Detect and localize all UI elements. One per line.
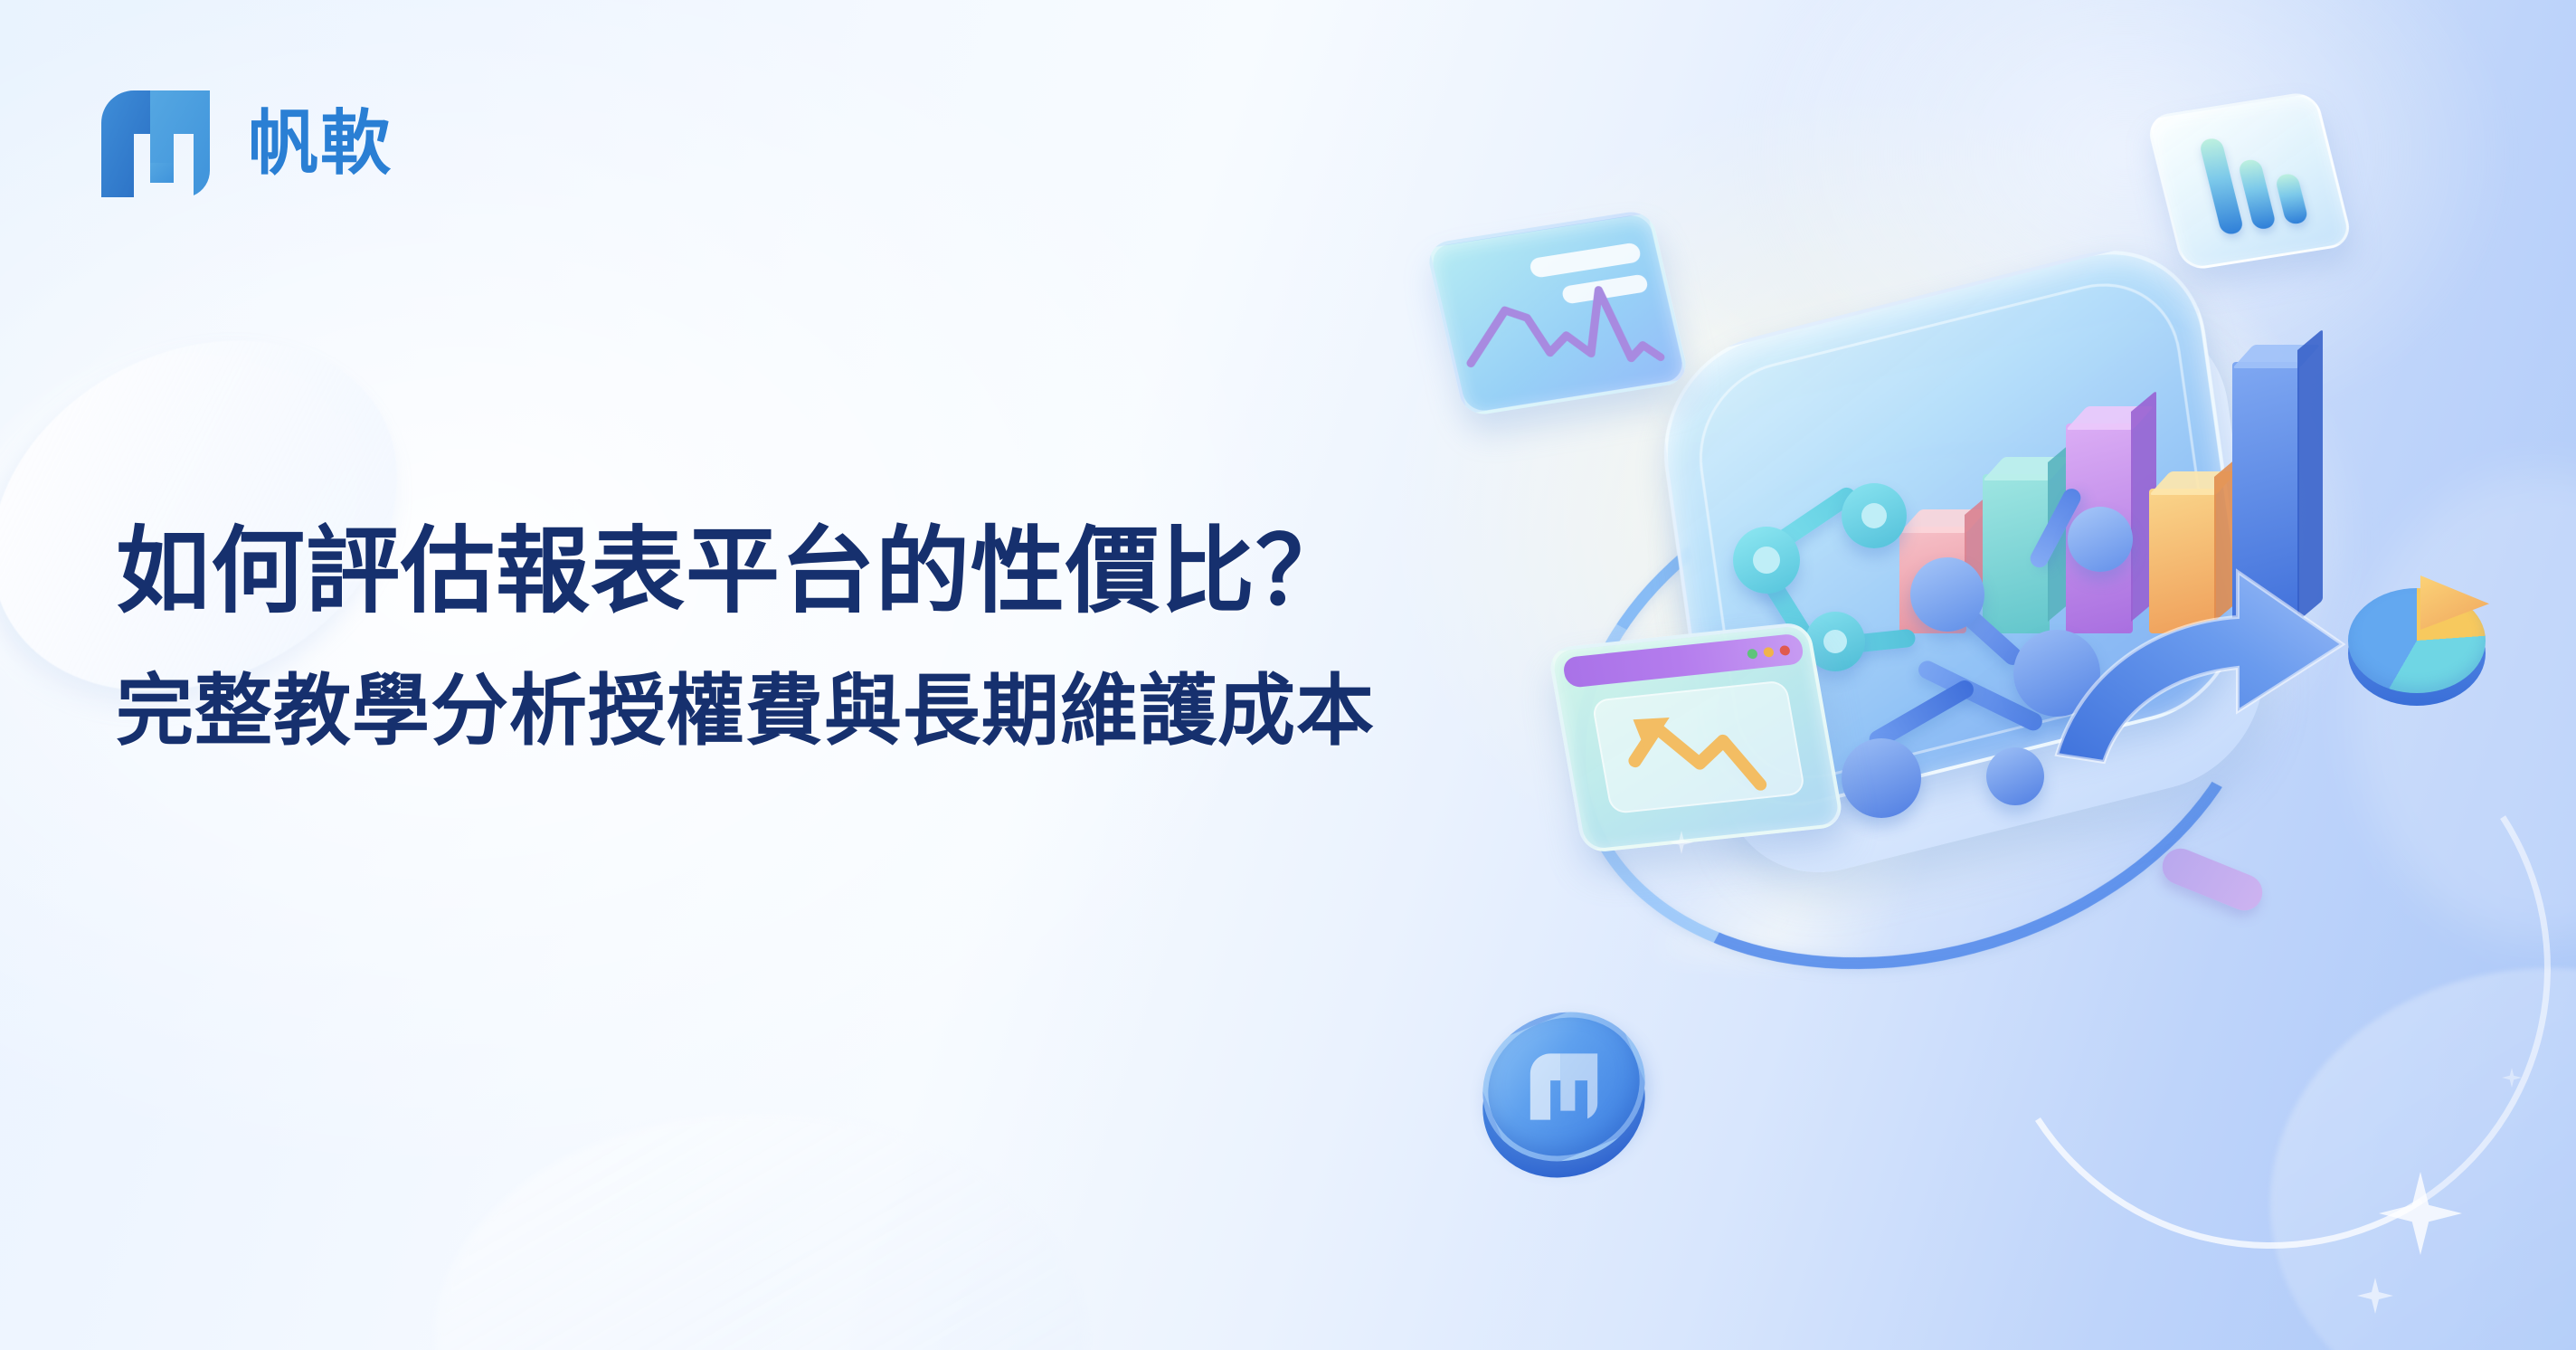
hero-illustration <box>1411 90 2576 1303</box>
trend-arrow-icon <box>1612 696 1792 811</box>
decorative-blob-bottom-left <box>434 1113 1085 1350</box>
line-chart-path-icon <box>1446 256 1681 404</box>
growth-arrow-icon <box>2044 516 2388 792</box>
card-bar <box>2275 173 2309 225</box>
hero-text-block: 如何評估報表平台的性價比？ 完整教學分析授權費與長期維護成本 <box>116 516 1375 758</box>
sparkle-icon <box>2357 1278 2393 1314</box>
fanruan-coin-icon <box>1474 1004 1655 1185</box>
card-bar <box>2238 158 2278 231</box>
coin-face <box>1460 988 1667 1185</box>
line-chart-card <box>1425 209 1690 417</box>
window-dot-green <box>1747 648 1758 659</box>
3d-pie-chart-icon <box>2343 570 2505 724</box>
window-dot-red <box>1779 644 1791 655</box>
brand-name: 帆軟 <box>248 109 393 179</box>
card-bar <box>2199 138 2245 236</box>
window-titlebar <box>1562 633 1805 689</box>
page-title: 如何評估報表平台的性價比？ <box>116 516 1375 627</box>
brand-logo[interactable]: 帆軟 <box>94 83 393 204</box>
window-dot-yellow <box>1763 646 1775 657</box>
page-subtitle: 完整教學分析授權費與長期維護成本 <box>116 665 1375 758</box>
fanruan-fr-monogram-icon <box>94 83 217 204</box>
hero-banner: 帆軟 如何評估報表平台的性價比？ 完整教學分析授權費與長期維護成本 <box>0 0 2576 1350</box>
bar-chart-card <box>2145 90 2354 272</box>
browser-window-card <box>1547 622 1844 854</box>
